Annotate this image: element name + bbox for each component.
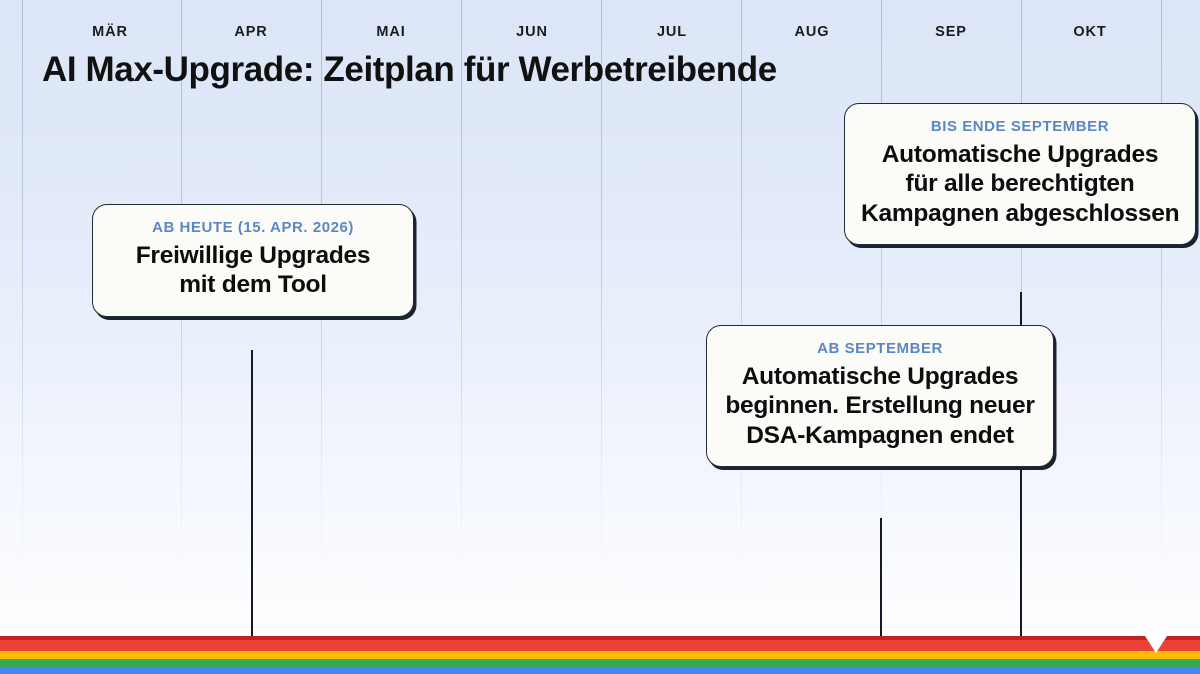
- band-blue: [0, 667, 1200, 674]
- gridline-3: [461, 0, 462, 636]
- band-green: [0, 659, 1200, 667]
- card-body: Freiwillige Upgradesmit dem Tool: [109, 241, 397, 300]
- band-red: [0, 640, 1200, 651]
- card-body-line: für alle berechtigten: [861, 169, 1179, 198]
- card-body-line: Freiwillige Upgrades: [109, 241, 397, 270]
- rainbow-footer-bar: [0, 636, 1200, 674]
- card-body-line: mit dem Tool: [109, 270, 397, 299]
- month-label-jun: JUN: [516, 24, 548, 40]
- card-body-line: beginnen. Erstellung neuer: [723, 391, 1037, 420]
- month-label-mär: MÄR: [92, 24, 128, 40]
- month-label-apr: APR: [234, 24, 267, 40]
- connector-stem-1: [251, 350, 253, 636]
- card-kicker: AB HEUTE (15. APR. 2026): [109, 219, 397, 236]
- gridline-8: [1161, 0, 1162, 636]
- month-label-sep: SEP: [935, 24, 967, 40]
- card-voluntary-upgrades[interactable]: AB HEUTE (15. APR. 2026)Freiwillige Upgr…: [92, 204, 414, 317]
- card-body-line: DSA-Kampagnen endet: [723, 421, 1037, 450]
- band-yellow: [0, 651, 1200, 659]
- page-title: AI Max-Upgrade: Zeitplan für Werbetreibe…: [42, 50, 777, 90]
- card-auto-upgrades-start[interactable]: AB SEPTEMBERAutomatische Upgradesbeginne…: [706, 325, 1054, 467]
- card-auto-upgrades-complete[interactable]: BIS ENDE SEPTEMBERAutomatische Upgradesf…: [844, 103, 1196, 245]
- card-body-line: Kampagnen abgeschlossen: [861, 199, 1179, 228]
- gridline-5: [741, 0, 742, 636]
- gridline-1: [181, 0, 182, 636]
- card-body: Automatische Upgradesfür alle berechtigt…: [861, 140, 1179, 228]
- card-kicker: BIS ENDE SEPTEMBER: [861, 118, 1179, 135]
- gridline-0: [22, 0, 23, 636]
- month-label-okt: OKT: [1073, 24, 1106, 40]
- today-marker: [1145, 636, 1167, 653]
- card-kicker: AB SEPTEMBER: [723, 340, 1037, 357]
- month-label-jul: JUL: [657, 24, 687, 40]
- gridline-2: [321, 0, 322, 636]
- timeline-slide: MÄRAPRMAIJUNJULAUGSEPOKT AI Max-Upgrade:…: [0, 0, 1200, 674]
- card-body-line: Automatische Upgrades: [861, 140, 1179, 169]
- card-body: Automatische Upgradesbeginnen. Erstellun…: [723, 362, 1037, 450]
- month-label-aug: AUG: [795, 24, 830, 40]
- gridline-4: [601, 0, 602, 636]
- connector-stem-2: [880, 518, 882, 636]
- card-body-line: Automatische Upgrades: [723, 362, 1037, 391]
- month-label-mai: MAI: [376, 24, 405, 40]
